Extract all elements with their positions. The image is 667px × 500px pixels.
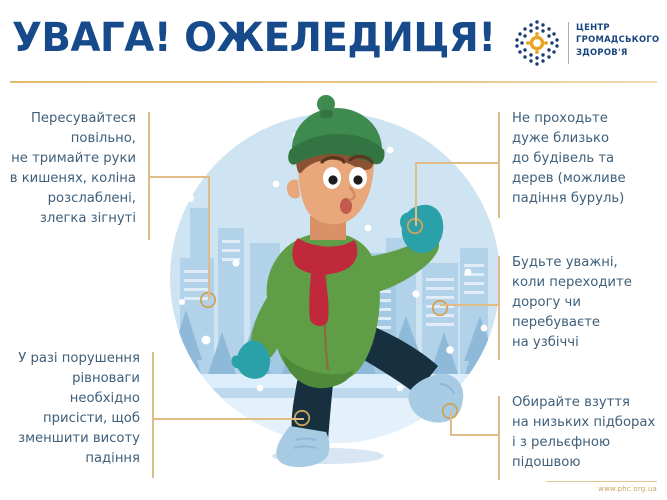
callout-bar-footwear xyxy=(498,396,500,480)
callout-slow-movement: Пересувайтеся повільно, не тримайте руки… xyxy=(0,112,150,240)
callout-footwear: Обирайте взуття на низьких підборах і з … xyxy=(498,396,667,480)
connector-line-slow-movement-v xyxy=(208,176,210,300)
logo: ЦЕНТР ГРОМАДСЬКОГО ЗДОРОВ'Я xyxy=(512,16,662,70)
footer-divider xyxy=(546,481,657,482)
connector-line-balance-h xyxy=(152,418,304,420)
callout-bar-slow-movement xyxy=(148,112,150,240)
callout-text-slow-movement: Пересувайтеся повільно, не тримайте руки… xyxy=(0,109,136,229)
logo-line-2: ГРОМАДСЬКОГО xyxy=(576,33,659,45)
connector-line-road-h xyxy=(440,304,499,306)
connector-line-buildings-v xyxy=(415,162,417,226)
connector-line-slow-movement-h xyxy=(148,176,210,178)
page-title: УВАГА! ОЖЕЛЕДИЦЯ! xyxy=(12,14,496,62)
callout-road-crossing: Будьте уважні, коли переходите дорогу чи… xyxy=(498,256,667,360)
header-divider xyxy=(10,81,657,83)
callout-balance-squat: У разі порушення рівноваги необхідно при… xyxy=(0,352,154,478)
header: УВАГА! ОЖЕЛЕДИЦЯ! xyxy=(0,0,667,84)
callout-bar-balance-squat xyxy=(152,352,154,478)
callout-text-footwear: Обирайте взуття на низьких підборах і з … xyxy=(512,393,667,473)
callout-avoid-buildings: Не проходьте дуже близько до будівель та… xyxy=(498,112,667,218)
callout-bar-road-crossing xyxy=(498,256,500,360)
logo-divider xyxy=(568,22,569,64)
infographic-poster: УВАГА! ОЖЕЛЕДИЦЯ! xyxy=(0,0,667,500)
logo-line-3: ЗДОРОВ'Я xyxy=(576,46,659,58)
connector-line-footwear-h xyxy=(450,434,499,436)
illustration-person-slipping-on-ice xyxy=(150,88,520,488)
callout-text-road-crossing: Будьте уважні, коли переходите дорогу чи… xyxy=(512,253,667,353)
footer-url: www.phc.org.ua xyxy=(546,485,657,493)
callout-text-balance-squat: У разі порушення рівноваги необхідно при… xyxy=(0,349,140,469)
callout-bar-avoid-buildings xyxy=(498,112,500,218)
logo-line-1: ЦЕНТР xyxy=(576,21,659,33)
logo-text: ЦЕНТР ГРОМАДСЬКОГО ЗДОРОВ'Я xyxy=(576,21,659,58)
connector-line-buildings-h xyxy=(415,162,499,164)
phc-dot-ring-logo-icon xyxy=(512,18,562,68)
callout-text-avoid-buildings: Не проходьте дуже близько до будівель та… xyxy=(512,109,667,209)
connector-line-footwear-v xyxy=(450,411,452,435)
